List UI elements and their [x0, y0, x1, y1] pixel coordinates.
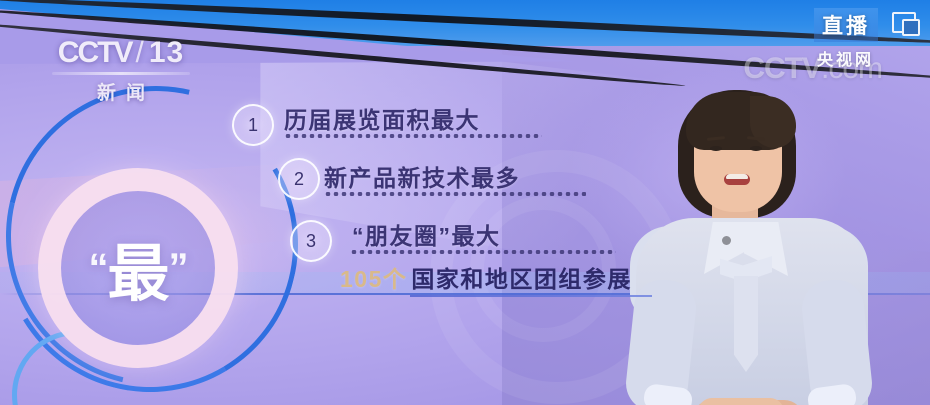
highlight-underline: [410, 295, 652, 297]
pip-inner-frame: [902, 19, 920, 36]
list-number-3: 3: [290, 220, 332, 262]
network-name: CCTV: [58, 36, 132, 70]
live-badge: 直播: [814, 8, 878, 42]
channel-subtitle: 新闻: [46, 78, 196, 105]
channel-number: 13: [149, 36, 184, 70]
list-item-text-2: 新产品新技术最多: [324, 159, 520, 193]
list-divider-3: [350, 250, 616, 254]
anchor-eye-right: [750, 146, 762, 151]
picture-in-picture-icon[interactable]: [892, 12, 918, 36]
list-divider-1: [284, 134, 542, 138]
network-name-chinese: 央视网: [817, 46, 874, 70]
zui-badge-label: “最”: [38, 168, 238, 368]
list-item-text-3: “朋友圈”最大: [352, 217, 501, 251]
highlight-statistic: 105个国家和地区团组参展: [340, 260, 632, 294]
zui-badge: “最”: [38, 168, 238, 368]
list-number-1: 1: [232, 104, 274, 146]
list-number-2: 2: [278, 158, 320, 200]
logo-underline: [52, 72, 190, 75]
channel-logo: CCTV / 13 新闻: [46, 36, 196, 105]
close-quote: ”: [169, 248, 188, 288]
logo-slash: /: [135, 36, 144, 70]
anchor-teeth: [726, 174, 748, 179]
news-anchor: [600, 70, 900, 405]
broadcast-frame: “最” 1 历届展览面积最大 2 新产品新技术最多 3 “朋友圈”最大 105个…: [0, 0, 930, 405]
highlight-number: 105个: [340, 266, 407, 292]
anchor-lapel-microphone: [722, 236, 731, 245]
open-quote: “: [88, 248, 107, 288]
list-item-text-1: 历届展览面积最大: [284, 101, 480, 135]
zui-character: 最: [107, 223, 168, 313]
anchor-eye-left: [710, 146, 722, 151]
list-divider-2: [324, 192, 586, 196]
channel-logo-main: CCTV / 13: [46, 36, 196, 70]
watermark-text: CCTV: [743, 52, 821, 85]
anchor-hand-upper: [698, 398, 784, 405]
highlight-text: 国家和地区团组参展: [411, 266, 632, 292]
anchor-blouse-placket: [734, 276, 758, 372]
